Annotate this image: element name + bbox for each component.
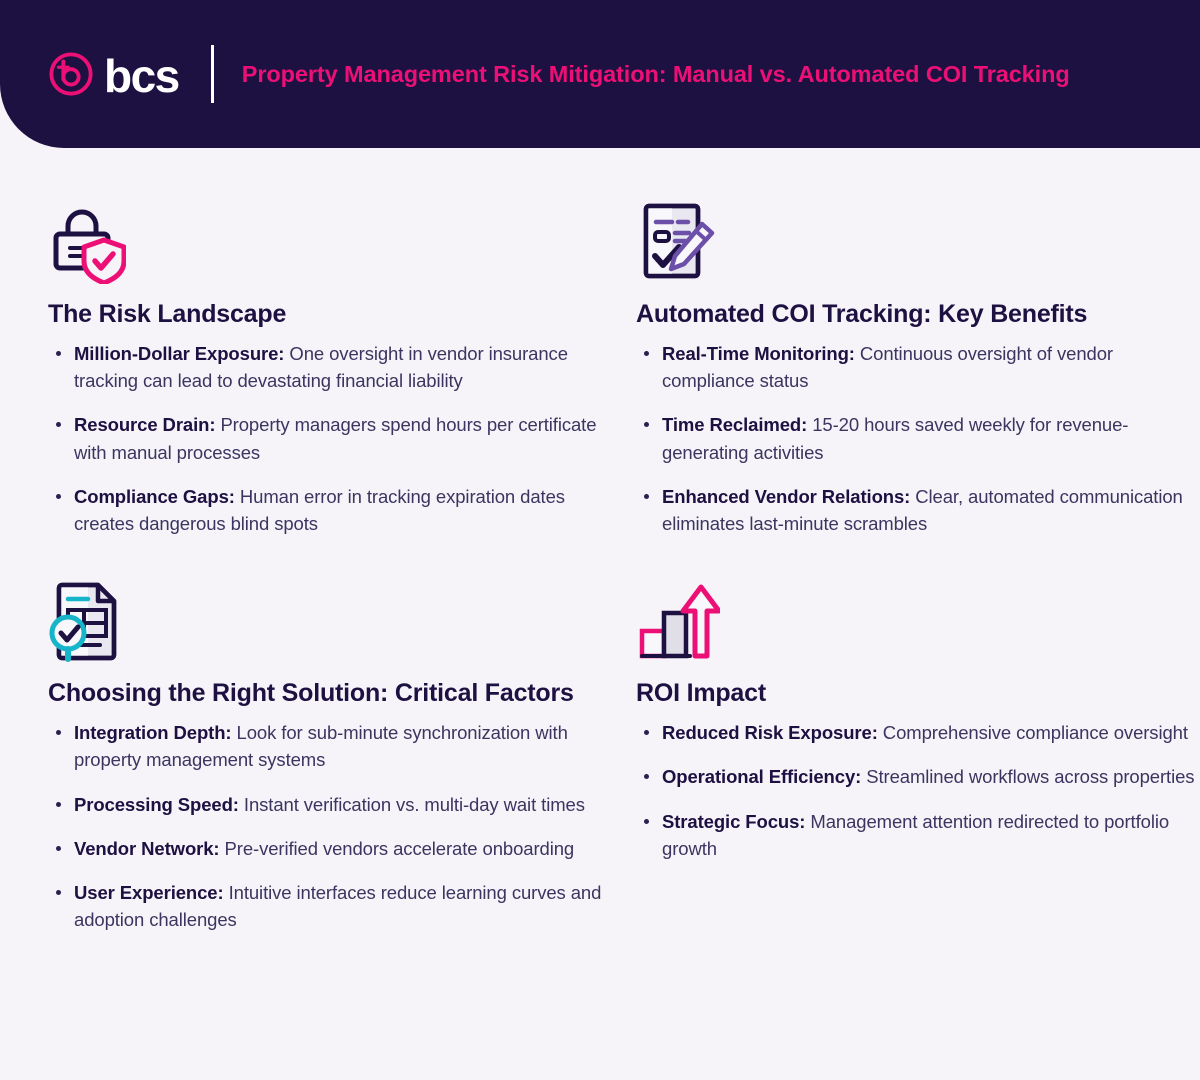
checklist-document-pen-icon <box>636 192 1200 284</box>
list-item: Time Reclaimed: 15-20 hours saved weekly… <box>636 411 1200 465</box>
padlock-shield-check-icon <box>48 192 618 284</box>
growth-bar-chart-arrow-icon <box>636 571 1200 663</box>
bullet-text: Pre-verified vendors accelerate onboardi… <box>220 838 575 859</box>
list-item: Compliance Gaps: Human error in tracking… <box>48 483 618 537</box>
bullet-label: Operational Efficiency: <box>662 766 861 787</box>
section-heading: ROI Impact <box>636 677 1200 709</box>
list-item: Real-Time Monitoring: Continuous oversig… <box>636 340 1200 394</box>
bullet-label: Resource Drain: <box>74 414 215 435</box>
list-item: Million-Dollar Exposure: One oversight i… <box>48 340 618 394</box>
header-divider <box>211 45 214 103</box>
section-heading: Choosing the Right Solution: Critical Fa… <box>48 677 618 709</box>
section-automated-coi-benefits: Automated COI Tracking: Key Benefits Rea… <box>636 148 1200 537</box>
list-item: Processing Speed: Instant verification v… <box>48 791 618 818</box>
bullet-label: Time Reclaimed: <box>662 414 807 435</box>
section-heading: Automated COI Tracking: Key Benefits <box>636 298 1200 330</box>
list-item: Integration Depth: Look for sub-minute s… <box>48 719 618 773</box>
bullet-label: Strategic Focus: <box>662 811 805 832</box>
bullet-label: Integration Depth: <box>74 722 232 743</box>
list-item: Reduced Risk Exposure: Comprehensive com… <box>636 719 1200 746</box>
page-title: Property Management Risk Mitigation: Man… <box>242 60 1070 88</box>
bullet-text: Instant verification vs. multi-day wait … <box>239 794 585 815</box>
list-item: Resource Drain: Property managers spend … <box>48 411 618 465</box>
section-risk-landscape: The Risk Landscape Million-Dollar Exposu… <box>48 148 618 537</box>
bullet-text: Comprehensive compliance oversight <box>878 722 1188 743</box>
list-item: Strategic Focus: Management attention re… <box>636 808 1200 862</box>
bullet-label: User Experience: <box>74 882 224 903</box>
list-item: User Experience: Intuitive interfaces re… <box>48 879 618 933</box>
list-item: Vendor Network: Pre-verified vendors acc… <box>48 835 618 862</box>
bullet-list: Integration Depth: Look for sub-minute s… <box>48 719 618 933</box>
bullet-label: Reduced Risk Exposure: <box>662 722 878 743</box>
list-item: Operational Efficiency: Streamlined work… <box>636 763 1200 790</box>
bullet-label: Enhanced Vendor Relations: <box>662 486 910 507</box>
section-heading: The Risk Landscape <box>48 298 618 330</box>
brand-logo: bcs <box>48 51 179 97</box>
section-roi-impact: ROI Impact Reduced Risk Exposure: Compre… <box>636 537 1200 933</box>
bullet-list: Real-Time Monitoring: Continuous oversig… <box>636 340 1200 537</box>
bullet-list: Million-Dollar Exposure: One oversight i… <box>48 340 618 537</box>
bcs-circular-b-logo-icon <box>48 51 94 97</box>
page-header: bcs Property Management Risk Mitigation:… <box>0 0 1200 148</box>
bullet-label: Million-Dollar Exposure: <box>74 343 284 364</box>
bullet-label: Processing Speed: <box>74 794 239 815</box>
bullet-label: Real-Time Monitoring: <box>662 343 855 364</box>
bullet-list: Reduced Risk Exposure: Comprehensive com… <box>636 719 1200 862</box>
document-magnifier-check-icon <box>48 571 618 663</box>
bullet-label: Compliance Gaps: <box>74 486 235 507</box>
bullet-text: Streamlined workflows across properties <box>861 766 1194 787</box>
list-item: Enhanced Vendor Relations: Clear, automa… <box>636 483 1200 537</box>
brand-wordmark: bcs <box>104 53 179 99</box>
section-choosing-solution: Choosing the Right Solution: Critical Fa… <box>48 537 618 933</box>
infographic-page: bcs Property Management Risk Mitigation:… <box>0 0 1200 1080</box>
bullet-label: Vendor Network: <box>74 838 220 859</box>
content-grid: The Risk Landscape Million-Dollar Exposu… <box>0 148 1200 933</box>
